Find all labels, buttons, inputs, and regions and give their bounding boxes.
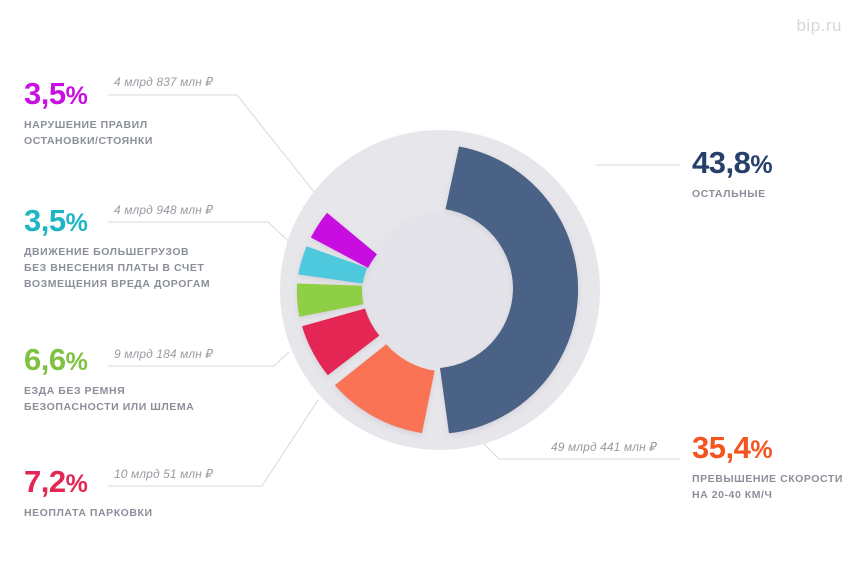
description-belt: ЕЗДА БЕЗ РЕМНЯ БЕЗОПАСНОСТИ ИЛИ ШЛЕМА (24, 384, 194, 416)
description-speed: ПРЕВЫШЕНИЕ СКОРОСТИ НА 20-40 КМ/Ч (692, 472, 843, 504)
label-other: 43,8% ОСТАЛЬНЫЕ (692, 147, 772, 203)
percent-parking: 3,5% (24, 78, 153, 109)
donut-chart (270, 120, 610, 460)
percent-trucks: 3,5% (24, 205, 210, 236)
description-trucks: ДВИЖЕНИЕ БОЛЬШЕГРУЗОВ БЕЗ ВНЕСЕНИЯ ПЛАТЫ… (24, 245, 210, 292)
description-other: ОСТАЛЬНЫЕ (692, 187, 772, 203)
watermark-bip-ru: bip.ru (796, 16, 842, 36)
label-speed: 35,4% ПРЕВЫШЕНИЕ СКОРОСТИ НА 20-40 КМ/Ч (692, 432, 843, 504)
amount-speed: 49 млрд 441 млн ₽ (551, 440, 657, 454)
percent-speed: 35,4% (692, 432, 843, 463)
donut-svg (270, 120, 610, 460)
description-nopay: НЕОПЛАТА ПАРКОВКИ (24, 506, 153, 522)
percent-nopay: 7,2% (24, 466, 153, 497)
description-parking: НАРУШЕНИЕ ПРАВИЛ ОСТАНОВКИ/СТОЯНКИ (24, 118, 153, 150)
label-trucks: 3,5% ДВИЖЕНИЕ БОЛЬШЕГРУЗОВ БЕЗ ВНЕСЕНИЯ … (24, 205, 210, 292)
label-nopay: 7,2% НЕОПЛАТА ПАРКОВКИ (24, 466, 153, 522)
label-parking: 3,5% НАРУШЕНИЕ ПРАВИЛ ОСТАНОВКИ/СТОЯНКИ (24, 78, 153, 150)
percent-belt: 6,6% (24, 344, 194, 375)
percent-other: 43,8% (692, 147, 772, 178)
infographic-canvas: bip.ru (0, 0, 860, 566)
label-belt: 6,6% ЕЗДА БЕЗ РЕМНЯ БЕЗОПАСНОСТИ ИЛИ ШЛЕ… (24, 344, 194, 416)
